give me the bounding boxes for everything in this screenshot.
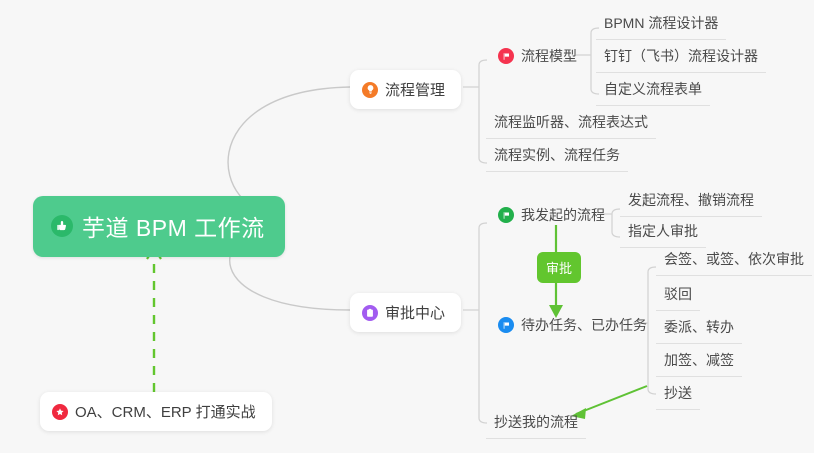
mindmap-canvas: 芋道 BPM 工作流 流程管理 流程模型 BPMN 流程设计器 钉钉（飞书）流程… (0, 0, 814, 453)
leaf-dingtalk-designer[interactable]: 钉钉（飞书）流程设计器 (596, 42, 766, 73)
leaf-countersign[interactable]: 会签、或签、依次审批 (656, 245, 812, 276)
leaf-cc-label: 抄送 (664, 383, 692, 403)
leaf-add-remove-sign[interactable]: 加签、减签 (656, 346, 742, 377)
leaf-bpmn-designer-label: BPMN 流程设计器 (604, 13, 718, 33)
lightbulb-icon (362, 82, 378, 98)
node-process-instance-label: 流程实例、流程任务 (494, 145, 620, 165)
connector-todo-trunk-cap-bottom (648, 389, 656, 394)
root-node-label: 芋道 BPM 工作流 (82, 209, 265, 243)
connector-todo-trunk-cap-top (648, 267, 656, 272)
node-cc-to-me[interactable]: 抄送我的流程 (486, 408, 586, 439)
node-todo-done-tasks[interactable]: 待办任务、已办任务 (490, 311, 655, 341)
flag-icon (498, 48, 514, 64)
leaf-add-remove-sign-label: 加签、减签 (664, 350, 734, 370)
star-icon (52, 404, 68, 420)
node-my-initiated-label: 我发起的流程 (521, 205, 605, 225)
leaf-cc[interactable]: 抄送 (656, 379, 700, 410)
thumbs-up-icon (51, 215, 73, 237)
leaf-dingtalk-designer-label: 钉钉（飞书）流程设计器 (604, 46, 758, 66)
leaf-countersign-label: 会签、或签、依次审批 (664, 249, 804, 269)
node-process-model-label: 流程模型 (521, 46, 577, 66)
leaf-delegate-transfer[interactable]: 委派、转办 (656, 313, 742, 344)
annotation-approval-tag: 审批 (537, 252, 581, 283)
leaf-reject-label: 驳回 (664, 284, 692, 304)
leaf-delegate-transfer-label: 委派、转办 (664, 317, 734, 337)
branch-approval-center[interactable]: 审批中心 (350, 293, 461, 332)
clipboard-icon (362, 305, 378, 321)
connector-pm-trunk-cap-top (479, 60, 487, 65)
arrow-cc-flow (576, 386, 647, 414)
leaf-start-cancel-process-label: 发起流程、撤销流程 (628, 190, 754, 210)
connector-init-trunk-cap-bottom (612, 232, 620, 237)
connector-init-trunk-cap-top (612, 209, 620, 214)
node-cc-to-me-label: 抄送我的流程 (494, 412, 578, 432)
flag-icon (498, 207, 514, 223)
node-process-listener[interactable]: 流程监听器、流程表达式 (486, 108, 656, 139)
leaf-reject[interactable]: 驳回 (656, 280, 700, 311)
branch-process-management[interactable]: 流程管理 (350, 70, 461, 109)
annotation-bottom-card-label: OA、CRM、ERP 打通实战 (75, 401, 256, 422)
leaf-bpmn-designer[interactable]: BPMN 流程设计器 (596, 9, 726, 40)
leaf-custom-form[interactable]: 自定义流程表单 (596, 75, 710, 106)
branch-process-management-label: 流程管理 (385, 79, 445, 100)
leaf-assignee-approval-label: 指定人审批 (628, 221, 698, 241)
node-todo-done-tasks-label: 待办任务、已办任务 (521, 315, 647, 335)
node-my-initiated[interactable]: 我发起的流程 (490, 201, 613, 231)
root-node[interactable]: 芋道 BPM 工作流 (33, 196, 285, 257)
leaf-assignee-approval[interactable]: 指定人审批 (620, 217, 706, 248)
annotation-bottom-card[interactable]: OA、CRM、ERP 打通实战 (40, 392, 272, 431)
flag-icon (498, 317, 514, 333)
annotation-approval-tag-label: 审批 (546, 261, 572, 276)
branch-approval-center-label: 审批中心 (385, 302, 445, 323)
node-process-listener-label: 流程监听器、流程表达式 (494, 112, 648, 132)
node-process-instance[interactable]: 流程实例、流程任务 (486, 141, 628, 172)
leaf-start-cancel-process[interactable]: 发起流程、撤销流程 (620, 186, 762, 217)
connector-ac-trunk-cap-top (479, 223, 487, 228)
leaf-custom-form-label: 自定义流程表单 (604, 79, 702, 99)
node-process-model[interactable]: 流程模型 (490, 42, 585, 72)
